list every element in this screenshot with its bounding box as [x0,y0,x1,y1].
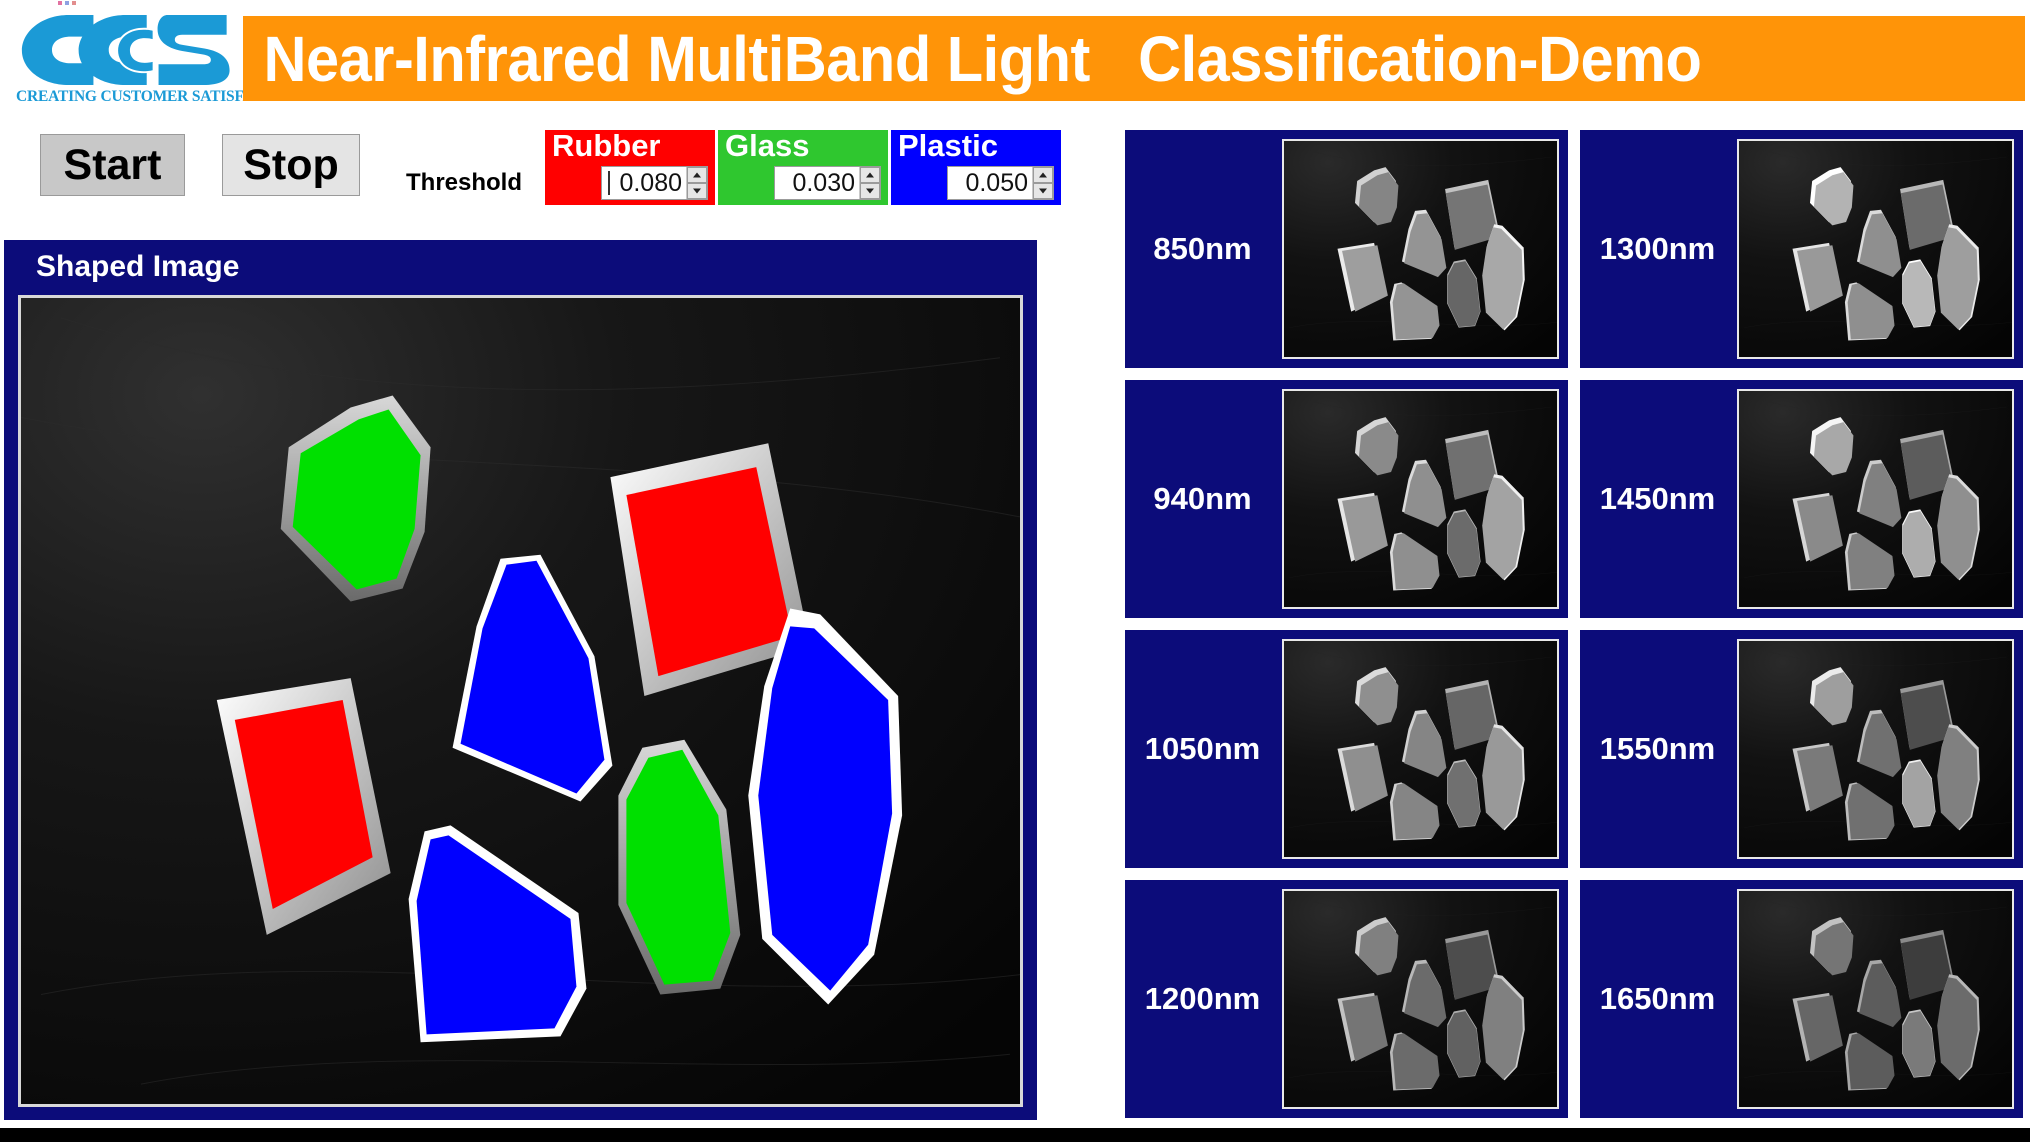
threshold-group-plastic: Plastic 0.050 [891,130,1061,205]
nir-thumbnail-image [1737,889,2014,1109]
nir-thumbnail-image [1282,389,1559,609]
start-button[interactable]: Start [40,134,185,196]
text-caret [608,171,610,195]
nir-thumbnail-image [1737,389,2014,609]
threshold-group-rubber: Rubber 0.080 [545,130,715,205]
app-header: CREATING CUSTOMER SATISFACTION Near-Infr… [0,0,2030,118]
spinner-down-icon[interactable] [687,183,707,199]
wavelength-label: 1450nm [1580,380,1735,618]
wavelength-panel-940nm[interactable]: 940nm [1125,380,1568,618]
app-root: CREATING CUSTOMER SATISFACTION Near-Infr… [0,0,2030,1128]
threshold-group-glass: Glass 0.030 [718,130,888,205]
wavelength-label: 1050nm [1125,630,1280,868]
spinner-arrows-glass[interactable] [859,167,880,199]
threshold-spinner-glass[interactable]: 0.030 [774,166,881,200]
threshold-name-glass: Glass [725,128,809,164]
wavelength-panel-1050nm[interactable]: 1050nm [1125,630,1568,868]
threshold-name-rubber: Rubber [552,128,661,164]
spinner-up-icon[interactable] [1033,167,1053,183]
wavelength-panel-850nm[interactable]: 850nm [1125,130,1568,368]
nir-thumbnail-image [1737,139,2014,359]
spinner-down-icon[interactable] [860,183,880,199]
wavelength-label: 1300nm [1580,130,1735,368]
threshold-value-plastic: 0.050 [965,169,1028,198]
nir-thumbnail-image [1282,639,1559,859]
ccs-logo-mark [18,12,233,86]
title-bar: Near-Infrared MultiBand Light Classifica… [243,16,2025,101]
wavelength-panel-1200nm[interactable]: 1200nm [1125,880,1568,1118]
wavelength-label: 850nm [1125,130,1280,368]
threshold-value-rubber: 0.080 [619,169,682,198]
spinner-arrows-rubber[interactable] [686,167,707,199]
spinner-up-icon[interactable] [860,167,880,183]
wavelength-label: 940nm [1125,380,1280,618]
nir-thumbnail-image [1282,139,1559,359]
wavelength-panel-1300nm[interactable]: 1300nm [1580,130,2023,368]
nir-thumbnail-image [1282,889,1559,1109]
stop-button[interactable]: Stop [222,134,360,196]
shaped-image-title: Shaped Image [36,250,239,284]
threshold-spinner-rubber[interactable]: 0.080 [601,166,708,200]
spinner-down-icon[interactable] [1033,183,1053,199]
threshold-spinner-plastic[interactable]: 0.050 [947,166,1054,200]
wavelength-label: 1550nm [1580,630,1735,868]
wavelength-grid: 850nm1300nm940nm1450nm1050nm1550nm1200nm… [1125,130,2023,1120]
page-title: Near-Infrared MultiBand Light Classifica… [243,22,1701,96]
shaped-image-canvas[interactable] [18,295,1023,1107]
ccs-logo: CREATING CUSTOMER SATISFACTION [8,10,236,110]
spinner-up-icon[interactable] [687,167,707,183]
nir-thumbnail-image [1737,639,2014,859]
spinner-arrows-plastic[interactable] [1032,167,1053,199]
wavelength-panel-1550nm[interactable]: 1550nm [1580,630,2023,868]
wavelength-label: 1200nm [1125,880,1280,1118]
threshold-label: Threshold [406,169,522,197]
bottom-strip [0,1128,2030,1142]
ccs-tagline: CREATING CUSTOMER SATISFACTION [16,88,236,106]
wavelength-panel-1450nm[interactable]: 1450nm [1580,380,2023,618]
shaped-image-panel: Shaped Image [4,240,1037,1120]
wavelength-label: 1650nm [1580,880,1735,1118]
threshold-name-plastic: Plastic [898,128,998,164]
wavelength-panel-1650nm[interactable]: 1650nm [1580,880,2023,1118]
threshold-value-glass: 0.030 [792,169,855,198]
